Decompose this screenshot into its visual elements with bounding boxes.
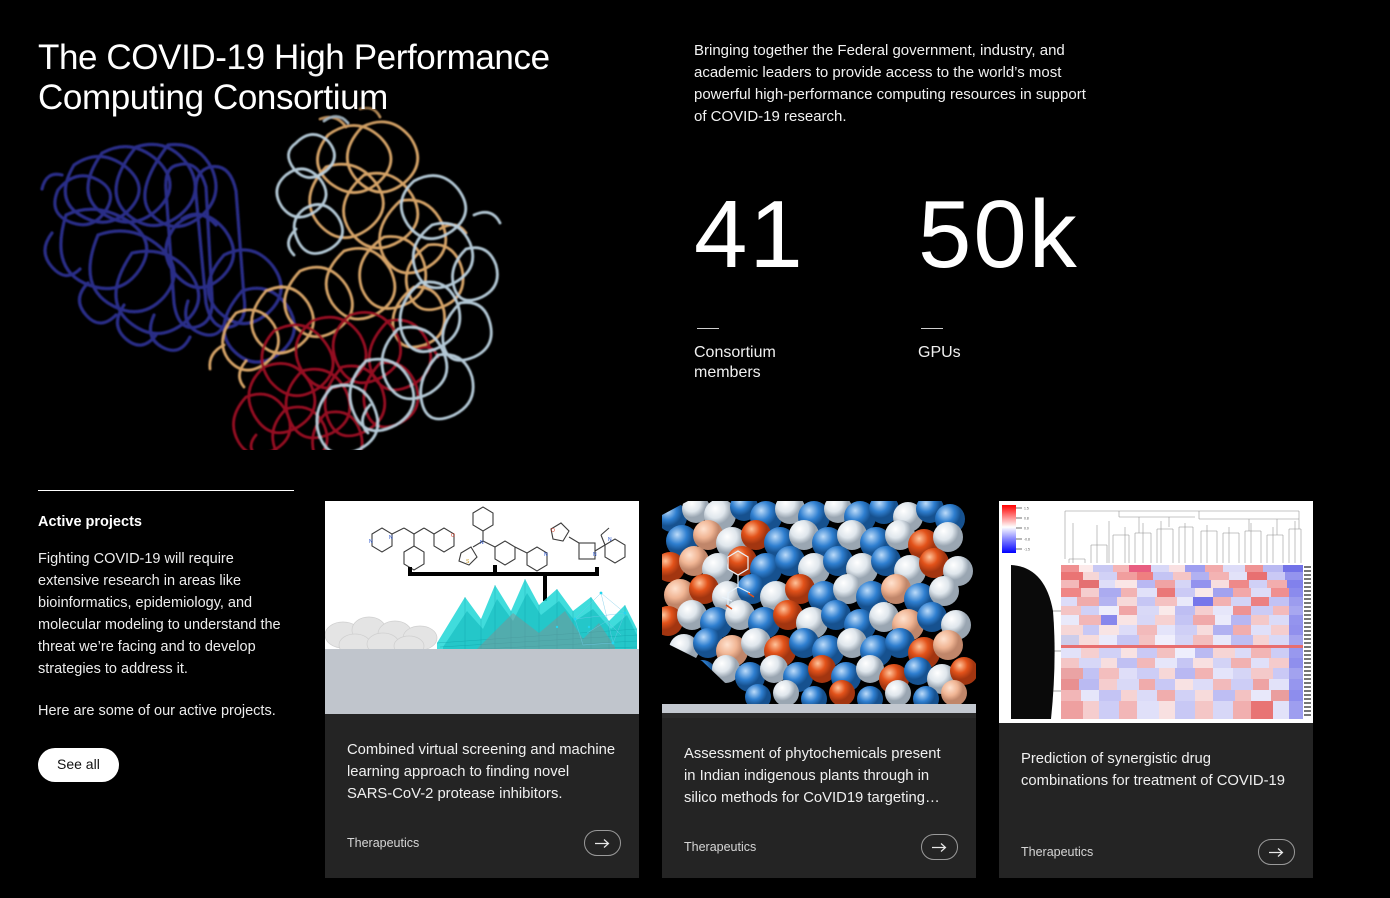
svg-text:N: N	[544, 552, 548, 558]
project-card[interactable]: N O N N S N O N N	[325, 501, 639, 878]
page-title: The COVID-19 High Performance Computing …	[38, 38, 578, 118]
svg-text:O: O	[451, 533, 455, 539]
arrow-right-icon[interactable]	[1258, 839, 1295, 865]
active-projects-section: Active projects Fighting COVID-19 will r…	[0, 470, 1390, 898]
hero-description: Bringing together the Federal government…	[694, 40, 1094, 128]
projects-paragraph-2: Here are some of our active projects.	[38, 700, 294, 722]
card-tag: Therapeutics	[1021, 845, 1093, 859]
project-card[interactable]: Assessment of phytochemicals present in …	[662, 501, 976, 878]
project-cards-grid: N O N N S N O N N	[325, 501, 1325, 879]
svg-text:N: N	[608, 537, 612, 543]
projects-sidebar: Active projects Fighting COVID-19 will r…	[38, 490, 294, 782]
card-tag: Therapeutics	[347, 836, 419, 850]
section-heading: Active projects	[38, 514, 294, 530]
stat-consortium-members: 41 Consortium members	[694, 180, 894, 383]
project-card[interactable]: 1.50.8 0.0-0.8 -1.5	[999, 501, 1313, 878]
see-all-button[interactable]: See all	[38, 748, 119, 782]
svg-text:N: N	[480, 540, 484, 546]
card-tag: Therapeutics	[684, 840, 756, 854]
card-title: Combined virtual screening and machine l…	[347, 739, 617, 805]
arrow-right-icon[interactable]	[921, 834, 958, 860]
page-root: The COVID-19 High Performance Computing …	[0, 0, 1390, 898]
svg-text:1.5: 1.5	[1024, 506, 1029, 510]
projects-paragraph-1: Fighting COVID-19 will require extensive…	[38, 548, 294, 680]
stat-value: 41	[694, 180, 894, 290]
card-title: Assessment of phytochemicals present in …	[684, 743, 954, 809]
stats-group: 41 Consortium members 50k GPUs	[694, 180, 1118, 383]
stat-divider	[921, 328, 943, 329]
card-title: Prediction of synergistic drug combinati…	[1021, 748, 1291, 792]
protein-ribbon-structure-image	[28, 105, 558, 450]
molecule-surface-plot-image: N O N N S N O N N	[325, 501, 639, 714]
card-footer: Therapeutics	[684, 834, 958, 860]
stat-label: Consortium members	[694, 343, 824, 383]
arrow-right-icon[interactable]	[584, 830, 621, 856]
stat-divider	[697, 328, 719, 329]
stat-value: 50k	[918, 180, 1118, 290]
svg-text:O: O	[551, 528, 555, 534]
stat-gpus: 50k GPUs	[918, 180, 1118, 383]
card-body: Combined virtual screening and machine l…	[325, 714, 639, 878]
card-body: Assessment of phytochemicals present in …	[662, 718, 976, 878]
svg-text:N: N	[369, 539, 373, 545]
svg-text:0.8: 0.8	[1024, 516, 1029, 520]
svg-text:-1.5: -1.5	[1024, 547, 1030, 551]
clustered-heatmap-dendrogram-image: 1.50.8 0.0-0.8 -1.5	[999, 501, 1313, 723]
card-body: Prediction of synergistic drug combinati…	[999, 723, 1313, 878]
stat-label: GPUs	[918, 343, 1048, 363]
hero-section: The COVID-19 High Performance Computing …	[0, 0, 1390, 470]
svg-text:N: N	[389, 535, 393, 541]
svg-text:N: N	[593, 552, 597, 558]
svg-text:0.0: 0.0	[1024, 526, 1029, 530]
card-footer: Therapeutics	[347, 830, 621, 856]
section-divider	[38, 490, 294, 491]
svg-text:-0.8: -0.8	[1024, 537, 1030, 541]
protein-surface-render-image	[662, 501, 976, 718]
card-footer: Therapeutics	[1021, 839, 1295, 865]
